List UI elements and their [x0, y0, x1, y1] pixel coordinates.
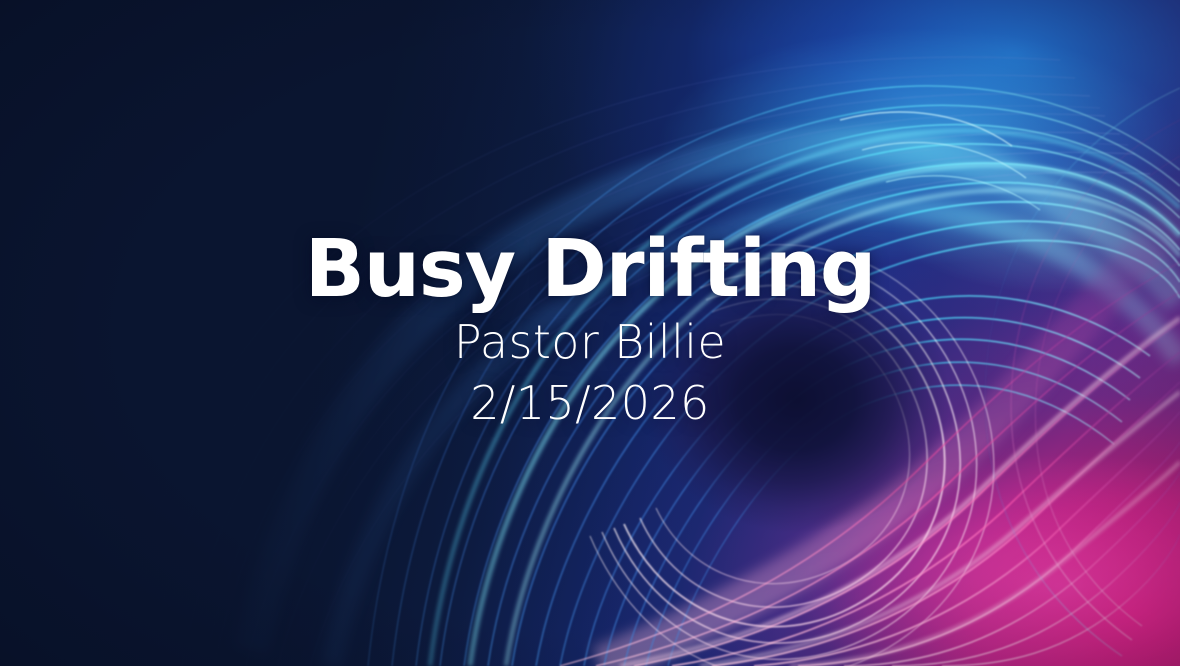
slide-text-block: Busy Drifting Pastor Billie 2/15/2026: [0, 232, 1180, 427]
page-title: Busy Drifting: [0, 232, 1180, 308]
slide-date: 2/15/2026: [0, 379, 1180, 428]
presenter-name: Pastor Billie: [0, 318, 1180, 367]
title-slide: Busy Drifting Pastor Billie 2/15/2026: [0, 0, 1180, 666]
